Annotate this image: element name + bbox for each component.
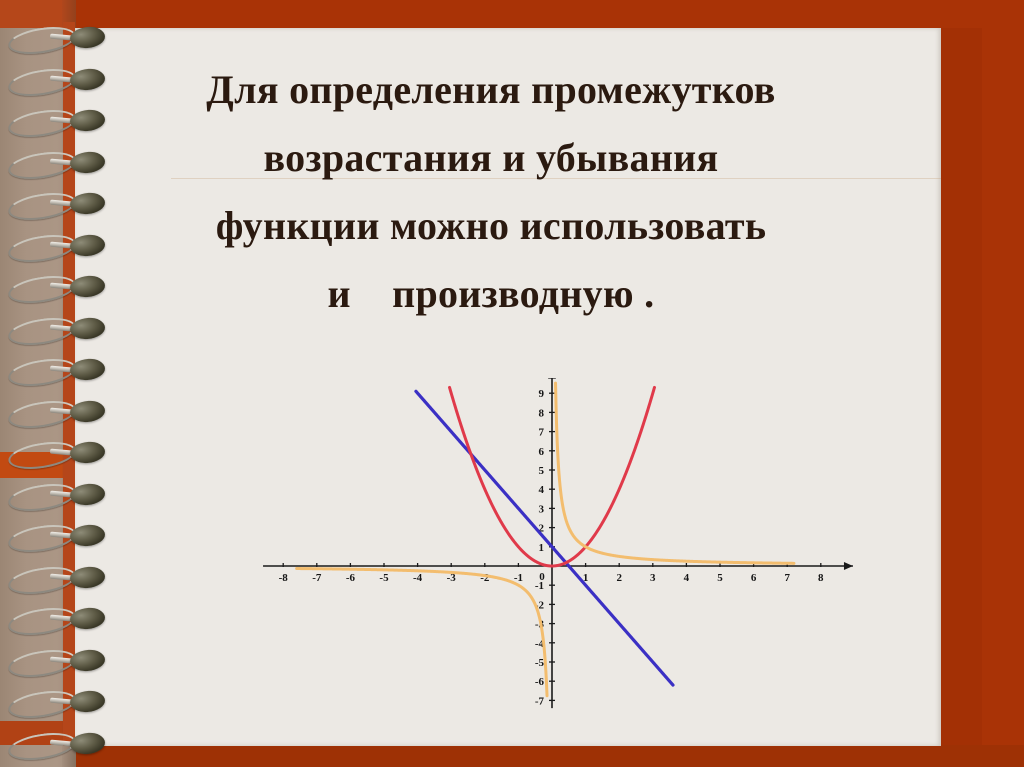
x-axis-tick-label: 8 (818, 572, 824, 584)
y-axis-arrow (548, 378, 556, 379)
page-title: Для определения промежутков возрастания … (96, 56, 886, 328)
function-graph: -8-7-6-5-4-3-2-1012345678-7-6-5-4-3-2-11… (258, 378, 888, 718)
y-axis-tick-label: 8 (539, 407, 545, 419)
frame-top-border (0, 0, 1024, 28)
title-line-3: функции можно использовать (96, 192, 886, 260)
x-axis-tick-label: 3 (650, 572, 656, 584)
x-axis-tick-label: -5 (379, 572, 389, 584)
y-axis-tick-label: -6 (535, 676, 545, 688)
y-axis-tick-label: 7 (539, 427, 545, 439)
y-axis-tick-label: 4 (539, 484, 545, 496)
x-axis-tick-label: 6 (751, 572, 757, 584)
page-left-edge (63, 22, 75, 746)
x-axis-tick-label: 5 (717, 572, 723, 584)
curve-hyperbola-right (556, 383, 794, 563)
x-axis-arrow (844, 562, 853, 570)
y-axis-tick-label: 6 (539, 446, 545, 458)
slide-root: Для определения промежутков возрастания … (0, 0, 1024, 767)
y-axis-tick-label: -5 (535, 657, 545, 669)
y-axis-tick-label: 9 (539, 388, 545, 400)
frame-right-border (982, 0, 1024, 767)
x-axis-tick-label: 2 (616, 572, 622, 584)
y-axis-tick-label: 3 (539, 503, 545, 515)
y-axis-tick-label: 5 (539, 465, 545, 477)
curve-hyperbola-left (297, 569, 547, 696)
title-line-2: возрастания и убывания (96, 124, 886, 192)
graph-canvas: -8-7-6-5-4-3-2-1012345678-7-6-5-4-3-2-11… (258, 378, 888, 718)
title-line-1: Для определения промежутков (96, 56, 886, 124)
x-axis-tick-label: -6 (346, 572, 356, 584)
x-axis-tick-label: -7 (312, 572, 322, 584)
x-axis-tick-label: 4 (684, 572, 690, 584)
x-axis-tick-label: 7 (784, 572, 790, 584)
y-axis-tick-label: -1 (535, 580, 544, 592)
x-axis-tick-label: -4 (413, 572, 423, 584)
title-line-4: и производную . (96, 260, 886, 328)
frame-bottom-border (0, 745, 1024, 767)
y-axis-tick-label: -7 (535, 695, 545, 707)
y-axis-tick-label: 1 (539, 542, 545, 554)
x-axis-tick-label: -8 (279, 572, 289, 584)
